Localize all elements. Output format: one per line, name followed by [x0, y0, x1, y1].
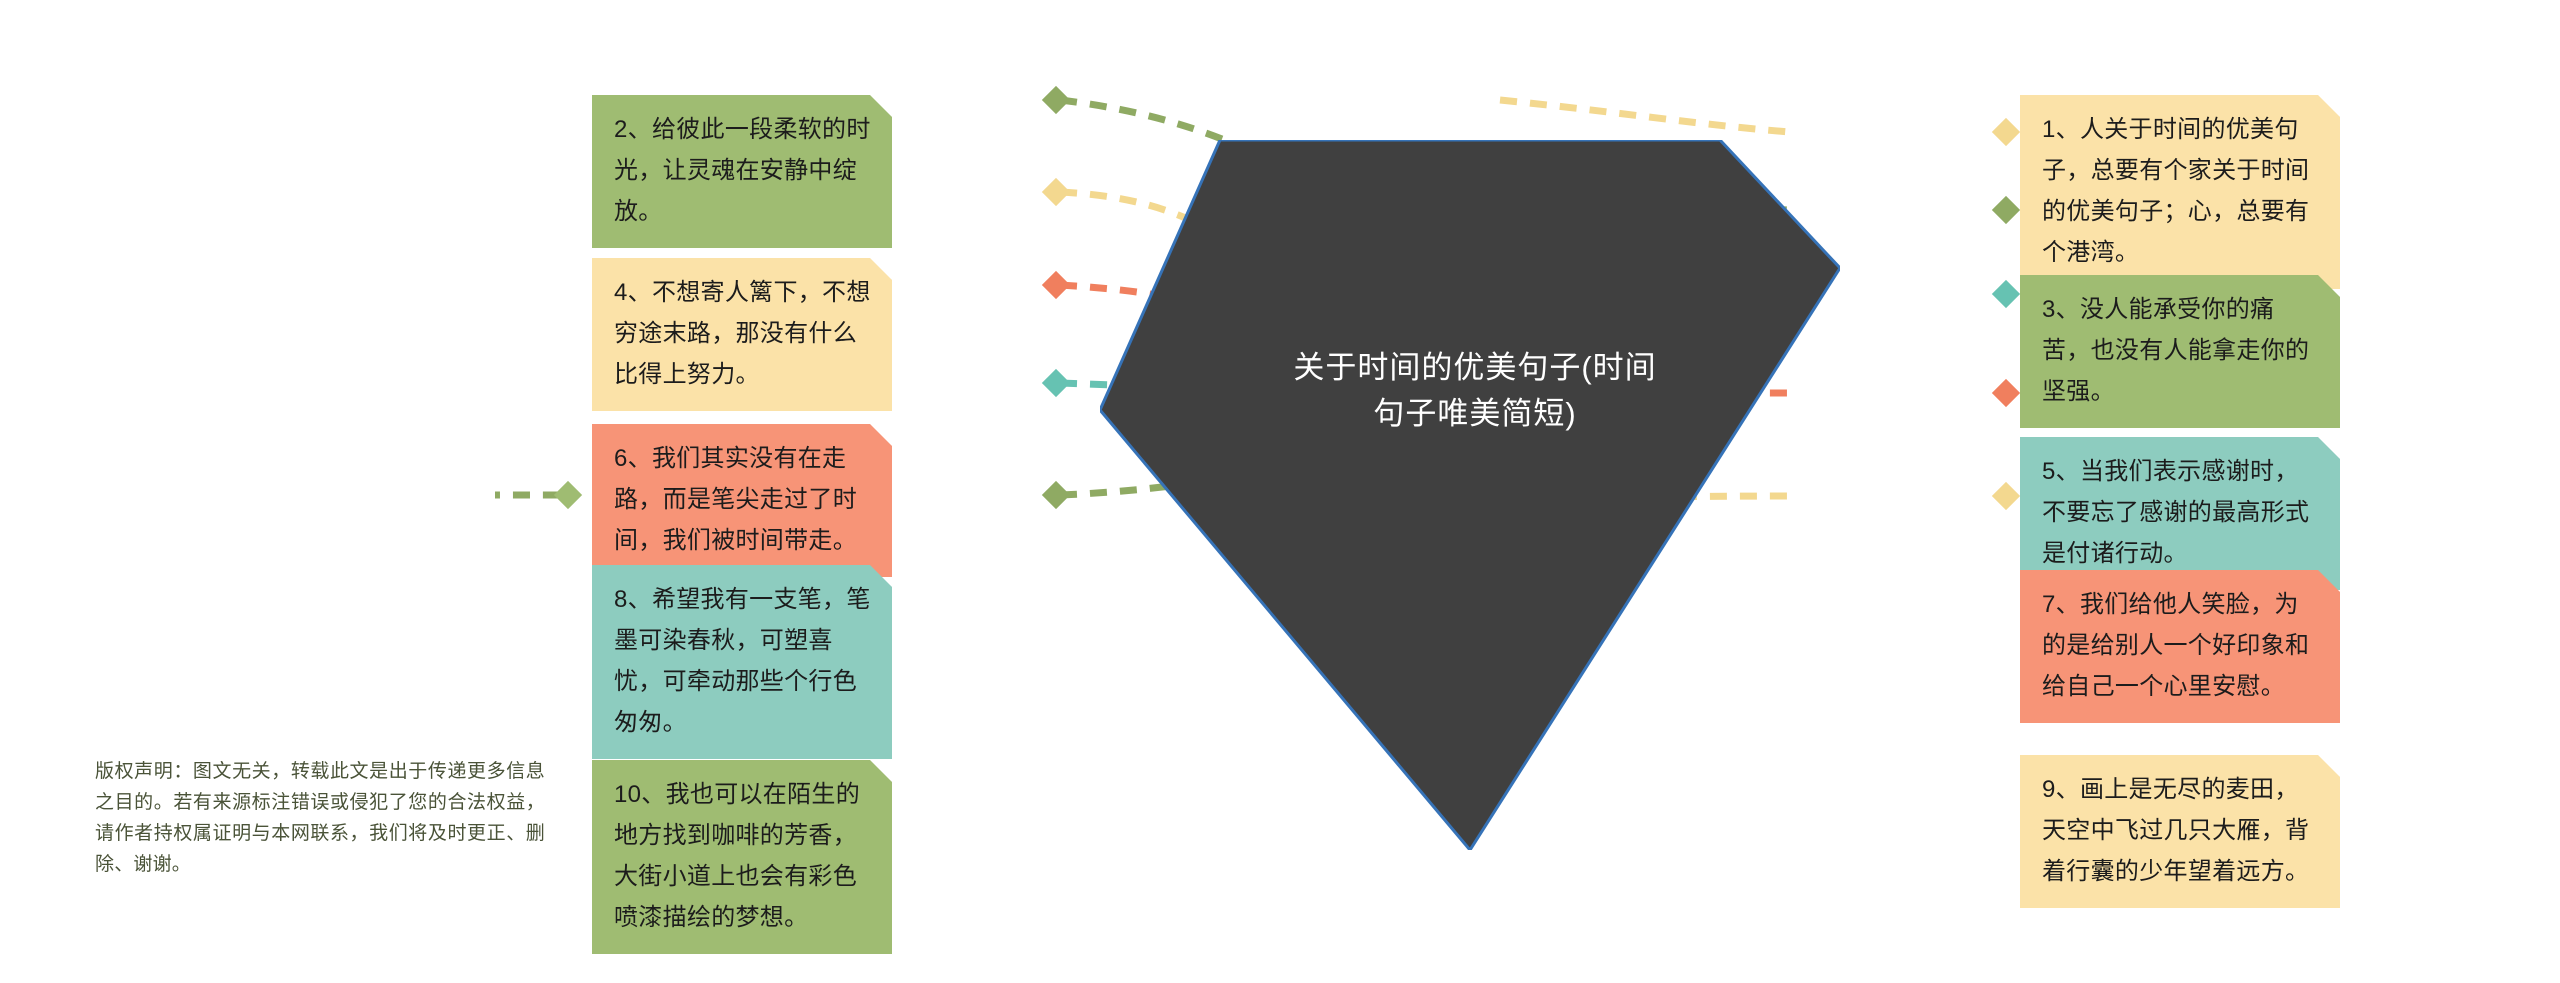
infographic-canvas: 关于时间的优美句子(时间 句子唯美简短) 2、给彼此一段柔软的时光，让灵魂在安静…	[0, 0, 2560, 983]
callout-right-5[interactable]: 5、当我们表示感谢时，不要忘了感谢的最高形式是付诸行动。	[2020, 437, 2340, 590]
callout-right-3[interactable]: 3、没人能承受你的痛苦，也没有人能拿走你的坚强。	[2020, 275, 2340, 428]
copyright-notice: 版权声明：图文无关，转载此文是出于传递更多信息之目的。若有来源标注错误或侵犯了您…	[95, 756, 545, 880]
callout-left-6[interactable]: 6、我们其实没有在走路，而是笔尖走过了时间，我们被时间带走。	[592, 424, 892, 577]
callout-left-2[interactable]: 2、给彼此一段柔软的时光，让灵魂在安静中绽放。	[592, 95, 892, 248]
center-polygon	[1100, 140, 1840, 850]
callout-right-7[interactable]: 7、我们给他人笑脸，为的是给别人一个好印象和给自己一个心里安慰。	[2020, 570, 2340, 723]
callout-left-4[interactable]: 4、不想寄人篱下，不想穷途末路，那没有什么比得上努力。	[592, 258, 892, 411]
callout-left-10[interactable]: 10、我也可以在陌生的地方找到咖啡的芳香，大街小道上也会有彩色喷漆描绘的梦想。	[592, 760, 892, 954]
callout-left-8[interactable]: 8、希望我有一支笔，笔墨可染春秋，可塑喜忧，可牵动那些个行色匆匆。	[592, 565, 892, 759]
callout-right-1[interactable]: 1、人关于时间的优美句子，总要有个家关于时间的优美句子；心，总要有个港湾。	[2020, 95, 2340, 289]
callout-right-9[interactable]: 9、画上是无尽的麦田，天空中飞过几只大雁，背着行囊的少年望着远方。	[2020, 755, 2340, 908]
